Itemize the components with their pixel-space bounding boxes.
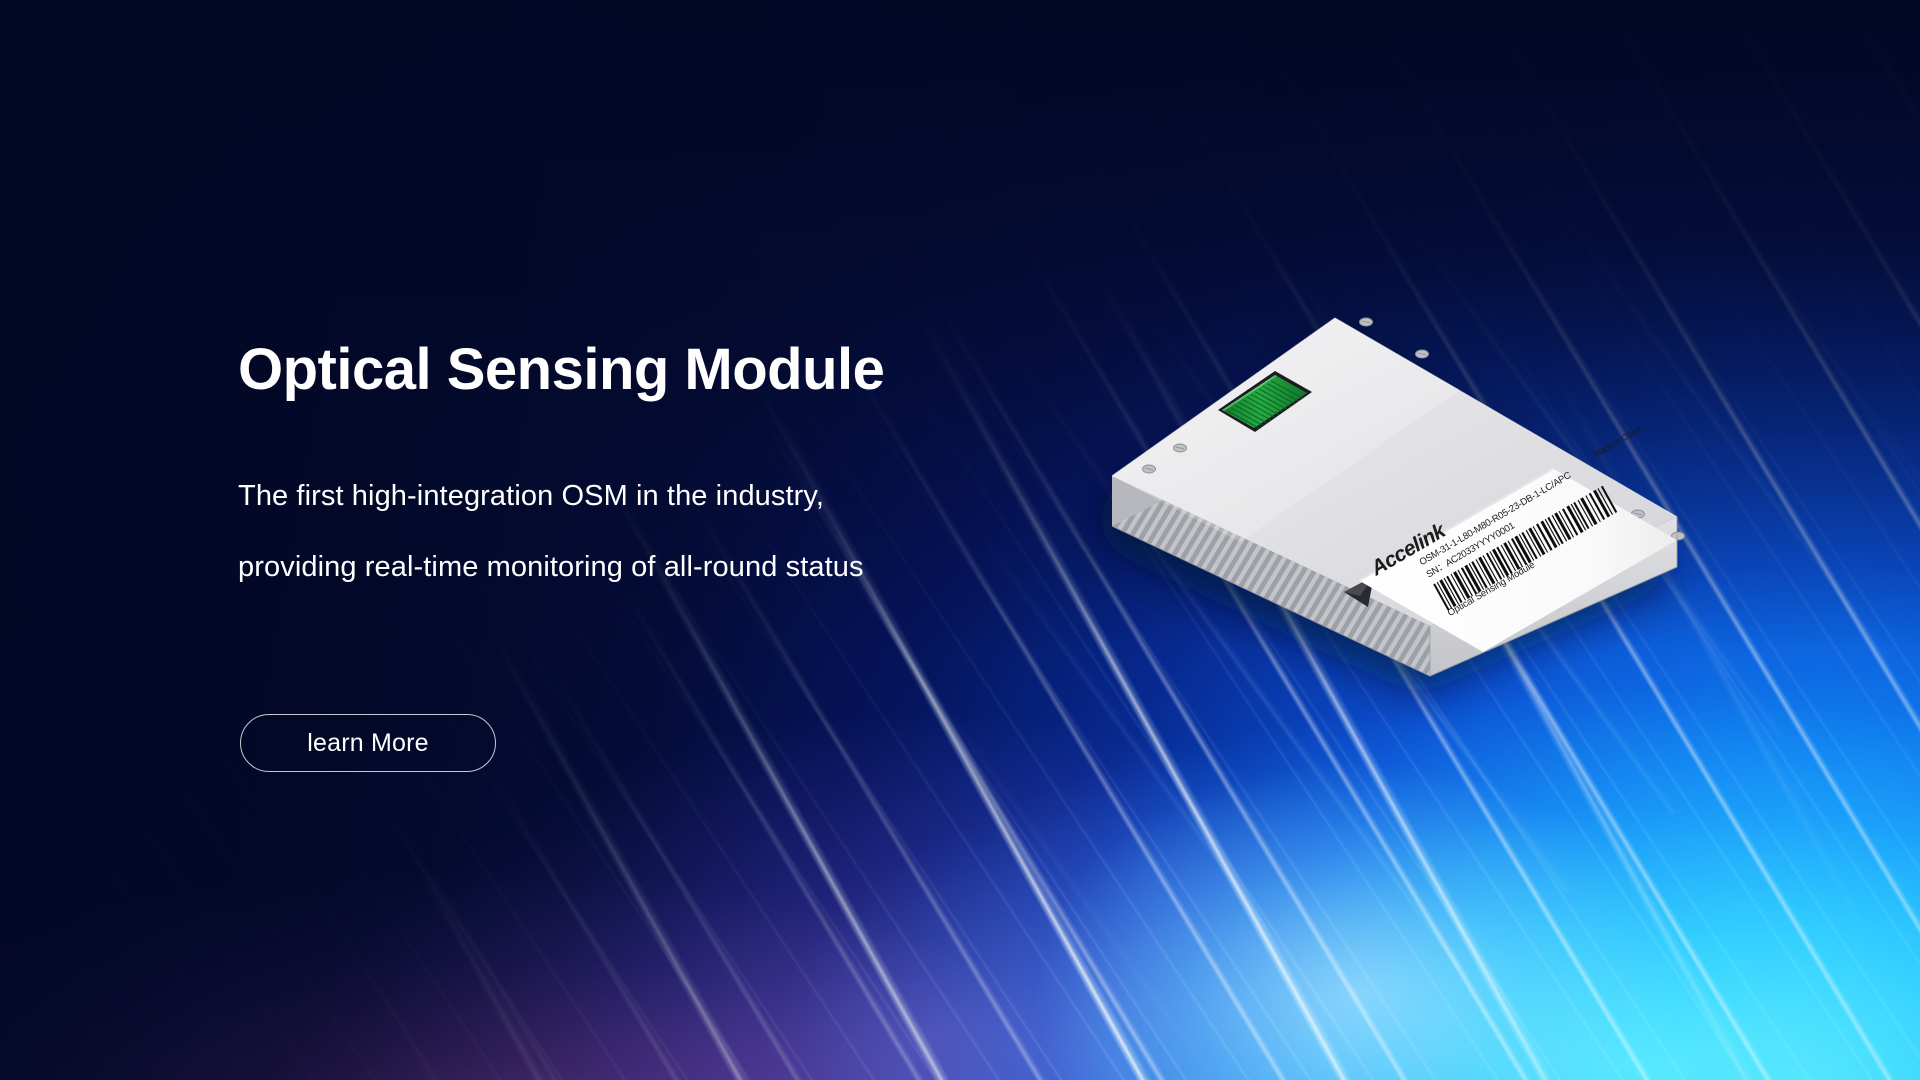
device-heatsink-side <box>1112 476 1430 676</box>
page-title: Optical Sensing Module <box>238 340 1138 401</box>
label-serial: SN：AC2033YYYY0001 <box>1425 520 1517 580</box>
device-top-face <box>1112 318 1677 626</box>
background-hotspot-glow <box>980 660 1880 1080</box>
learn-more-button[interactable]: learn More <box>240 714 496 772</box>
label-barcode <box>1433 486 1617 611</box>
hero-copy-block: Optical Sensing Module The first high-in… <box>238 340 1138 603</box>
device-edge-highlights <box>1112 318 1677 517</box>
hero-subtitle-line-1: The first high-integration OSM in the in… <box>238 461 1138 532</box>
product-image-optical-sensing-module: Accelink OSM-31-1-L80-M80-R05-23-DB-1-LC… <box>1100 280 1740 750</box>
device-right-side <box>1430 517 1677 676</box>
label-origin: Made in China <box>1592 423 1643 459</box>
triangle-orientation-marker <box>1344 576 1374 607</box>
hero-subtitle: The first high-integration OSM in the in… <box>238 401 1138 603</box>
green-pcb-connector <box>1218 371 1312 432</box>
label-brand: Accelink <box>1366 518 1450 581</box>
device-top-sheen <box>1112 318 1460 542</box>
device-heatsink-shade <box>1112 476 1430 676</box>
hero-banner: Accelink OSM-31-1-L80-M80-R05-23-DB-1-LC… <box>0 0 1920 1080</box>
hero-subtitle-line-2: providing real-time monitoring of all-ro… <box>238 532 1138 603</box>
label-product-name: Optical Sensing Module <box>1446 559 1537 618</box>
device-body: Accelink OSM-31-1-L80-M80-R05-23-DB-1-LC… <box>1112 318 1685 676</box>
device-screws <box>1143 318 1685 584</box>
label-model: OSM-31-1-L80-M80-R05-23-DB-1-LC/APC <box>1418 470 1574 568</box>
device-screw-slots <box>1145 321 1642 581</box>
product-label: Accelink OSM-31-1-L80-M80-R05-23-DB-1-LC… <box>1358 408 1677 652</box>
